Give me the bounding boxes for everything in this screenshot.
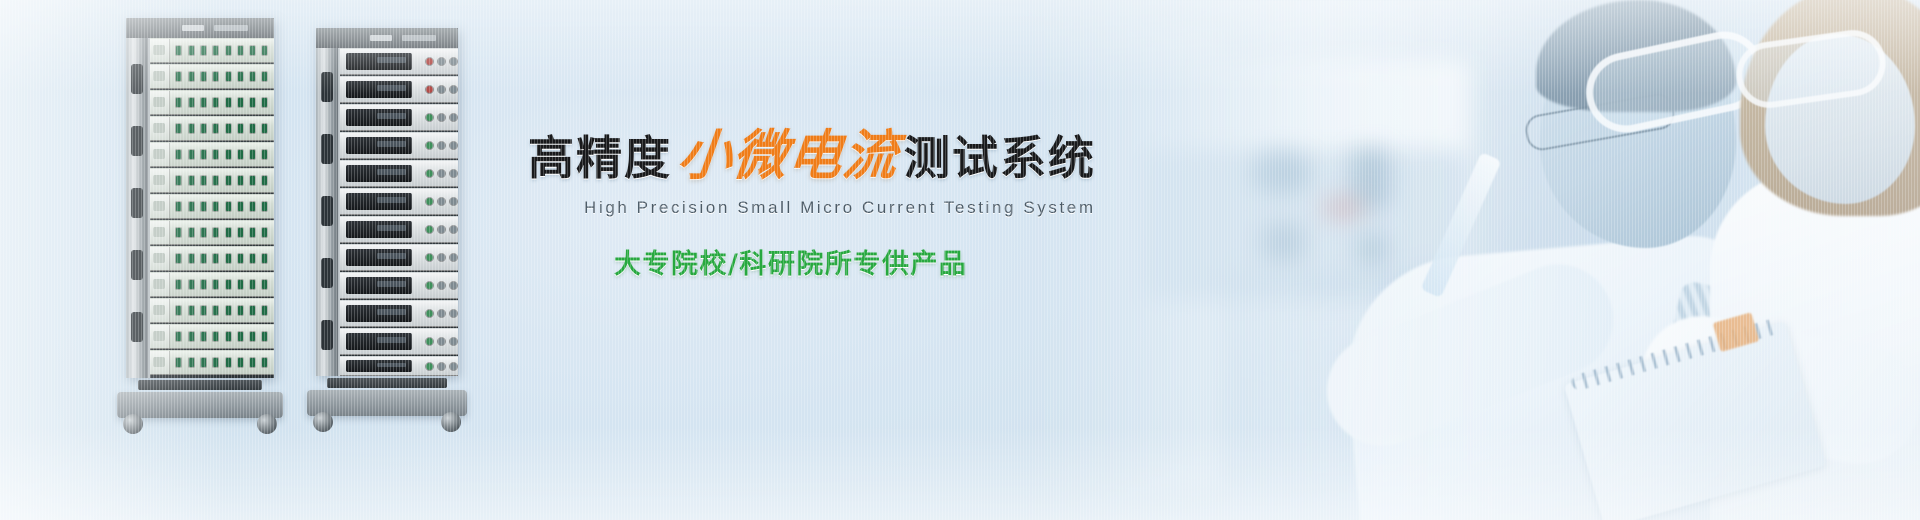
meter-display: [346, 81, 412, 99]
rack-unit: [340, 160, 458, 187]
meter-knob-row: [418, 133, 458, 158]
product-banner: 高精度 小微电流 测试系统 High Precision Small Micro…: [0, 0, 1920, 520]
unit-port-row: [170, 221, 274, 244]
rack-post-slot: [131, 126, 143, 156]
unit-port-row: [170, 143, 274, 166]
instrument-rack-green-modules: [126, 18, 274, 408]
meter-display: [346, 360, 412, 373]
rack-post-slot: [321, 258, 333, 288]
meter-display: [346, 221, 412, 239]
meter-knob-row: [418, 217, 458, 242]
rack-unit: [150, 38, 274, 63]
rack-unit: [340, 300, 458, 327]
unit-left-panel: [150, 65, 170, 88]
unit-left-panel: [150, 169, 170, 192]
rack-unit: [150, 220, 274, 245]
unit-port-row: [170, 325, 274, 348]
unit-port-row: [170, 169, 274, 192]
unit-left-panel: [150, 273, 170, 296]
unit-left-panel: [150, 117, 170, 140]
unit-left-panel: [150, 351, 170, 374]
meter-knob-row: [418, 301, 458, 326]
meter-display: [346, 53, 412, 71]
unit-port-row: [170, 247, 274, 270]
rack-brand-chip: [370, 35, 392, 41]
caster-wheel: [313, 412, 333, 432]
laboratory-researchers-photo: [1020, 0, 1920, 520]
rack-post-slot: [131, 250, 143, 280]
rack-unit: [340, 188, 458, 215]
rack-left-top-panel: [126, 18, 274, 38]
meter-knob-row: [418, 357, 458, 375]
unit-port-row: [170, 195, 274, 218]
rack-unit: [340, 132, 458, 159]
meter-display: [346, 333, 412, 351]
unit-left-panel: [150, 39, 170, 62]
unit-port-row: [170, 299, 274, 322]
meter-knob-row: [418, 77, 458, 102]
rack-model-chip: [402, 35, 436, 41]
rack-unit: [340, 272, 458, 299]
rack-right-top-panel: [316, 28, 458, 48]
unit-port-row: [170, 273, 274, 296]
rack-right-body: [340, 48, 458, 376]
rack-unit: [150, 298, 274, 323]
unit-left-panel: [150, 143, 170, 166]
rack-post-slot: [131, 64, 143, 94]
meter-knob-row: [418, 329, 458, 354]
rack-unit: [150, 90, 274, 115]
rack-unit: [150, 142, 274, 167]
rack-unit: [340, 76, 458, 103]
rack-unit: [340, 328, 458, 355]
rack-right-frame: [316, 28, 458, 376]
caster-wheel: [123, 414, 143, 434]
rack-unit: [150, 272, 274, 297]
photo-color-wash: [1020, 0, 1920, 520]
rack-unit: [340, 244, 458, 271]
meter-display: [346, 193, 412, 211]
rack-post-slot: [321, 320, 333, 350]
instrument-rack-meter-modules: [316, 28, 458, 408]
caster-wheel: [441, 412, 461, 432]
caster-wheel: [257, 414, 277, 434]
rack-post-slot: [131, 312, 143, 342]
rack-post-slot: [321, 196, 333, 226]
meter-knob-row: [418, 49, 458, 74]
banner-text-block: 高精度 小微电流 测试系统 High Precision Small Micro…: [528, 128, 1048, 281]
rack-right-base: [307, 390, 466, 416]
meter-knob-row: [418, 105, 458, 130]
headline-prefix: 高精度: [528, 135, 672, 181]
page-title: 高精度 小微电流 测试系统: [528, 128, 1048, 182]
rack-unit: [340, 216, 458, 243]
rack-unit: [340, 48, 458, 75]
meter-display: [346, 137, 412, 155]
rack-left-label-strip: [138, 380, 262, 390]
rack-left-base: [117, 392, 283, 418]
unit-port-row: [170, 39, 274, 62]
rack-post-slot: [321, 72, 333, 102]
subtitle-english: High Precision Small Micro Current Testi…: [584, 198, 1048, 218]
rack-unit: [150, 194, 274, 219]
rack-left-body: [150, 38, 274, 378]
rack-unit: [150, 64, 274, 89]
rack-post-slot: [321, 134, 333, 164]
rack-unit: [150, 116, 274, 141]
meter-knob-row: [418, 245, 458, 270]
headline-highlight: 小微电流: [675, 128, 901, 182]
meter-knob-row: [418, 189, 458, 214]
rack-post-slot: [131, 188, 143, 218]
meter-display: [346, 249, 412, 267]
headline-suffix: 测试系统: [904, 135, 1096, 181]
rack-unit: [150, 168, 274, 193]
rack-unit: [150, 350, 274, 375]
meter-display: [346, 109, 412, 127]
rack-unit: [150, 324, 274, 349]
rack-model-chip: [214, 25, 248, 31]
rack-left-frame: [126, 18, 274, 378]
meter-display: [346, 165, 412, 183]
rack-unit: [340, 356, 458, 376]
rack-unit: [340, 104, 458, 131]
rack-brand-chip: [182, 25, 204, 31]
unit-left-panel: [150, 195, 170, 218]
unit-left-panel: [150, 325, 170, 348]
meter-display: [346, 305, 412, 323]
unit-port-row: [170, 91, 274, 114]
tagline: 大专院校/科研院所专供产品: [614, 242, 1048, 281]
rack-right-post: [316, 48, 338, 376]
unit-left-panel: [150, 221, 170, 244]
unit-port-row: [170, 117, 274, 140]
meter-knob-row: [418, 161, 458, 186]
rack-right-label-strip: [327, 378, 446, 388]
unit-left-panel: [150, 299, 170, 322]
unit-left-panel: [150, 247, 170, 270]
unit-left-panel: [150, 91, 170, 114]
unit-port-row: [170, 65, 274, 88]
unit-port-row: [170, 351, 274, 374]
meter-knob-row: [418, 273, 458, 298]
rack-left-post: [126, 38, 148, 378]
meter-display: [346, 277, 412, 295]
rack-unit: [150, 246, 274, 271]
